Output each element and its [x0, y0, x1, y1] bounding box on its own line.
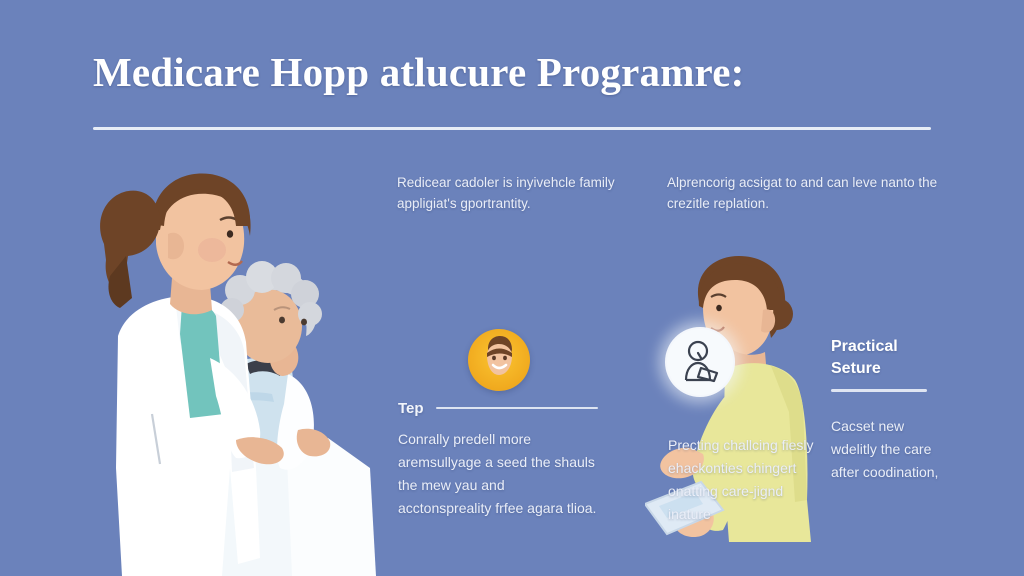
- title-divider: [93, 127, 931, 130]
- lead-paragraph-left: Redicear cadoler is inyivehcle family ap…: [397, 172, 647, 214]
- tep-divider: [436, 407, 598, 410]
- page-title: Medicare Hopp atlucure Programre:: [93, 46, 953, 98]
- practical-section-divider: [831, 389, 927, 392]
- lead-paragraph-right: Alprencorig acsigat to and can leve nant…: [667, 172, 939, 214]
- practical-section-heading: Practical Seture: [831, 336, 951, 380]
- right-body-text: Precting challcing fiesly ehackonties ch…: [668, 434, 818, 526]
- middle-body-text: Conrally predell more aremsullyage a see…: [398, 428, 598, 520]
- illustration-nurse-helping-elderly-woman: [60, 138, 400, 576]
- tep-label: Tep: [398, 400, 424, 417]
- person-avatar-icon: [468, 329, 530, 391]
- practical-section-body: Cacset new wdelitly the care after coodi…: [831, 415, 946, 484]
- infographic-poster: Medicare Hopp atlucure Programre:: [0, 0, 1024, 576]
- tep-label-row: Tep: [398, 398, 598, 418]
- patient-care-icon: [665, 327, 735, 397]
